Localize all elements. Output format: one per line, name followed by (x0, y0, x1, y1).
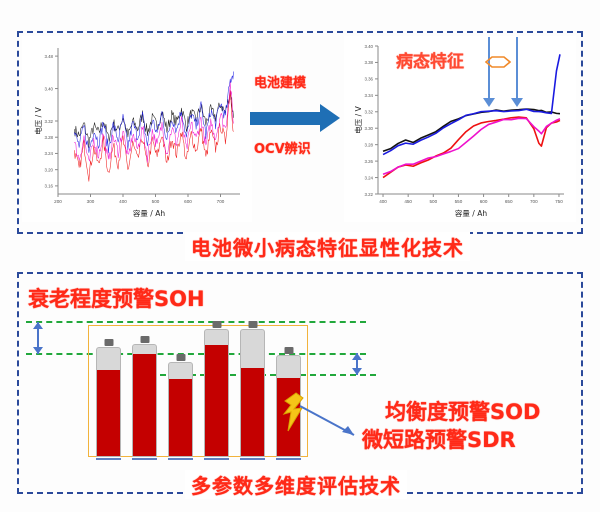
battery-cap-icon (140, 336, 149, 343)
battery-cell (132, 336, 157, 457)
svg-text:3.40: 3.40 (364, 44, 373, 49)
svg-text:3.22: 3.22 (364, 192, 373, 197)
svg-text:3.24: 3.24 (364, 175, 373, 180)
battery-fill-level (97, 370, 120, 456)
svg-text:450: 450 (404, 199, 412, 204)
battery-base (204, 458, 229, 460)
battery-body (132, 344, 157, 457)
battery-cell (168, 354, 193, 457)
battery-cap-icon (176, 354, 185, 361)
down-arrow-head (483, 98, 495, 107)
battery-base (168, 458, 193, 460)
svg-text:400: 400 (119, 199, 127, 204)
battery-fill-level (169, 379, 192, 456)
soh-label: 衰老程度预警SOH (28, 283, 205, 313)
battery-base (276, 458, 301, 460)
battery-fill-level (133, 354, 156, 456)
svg-text:3.38: 3.38 (364, 60, 373, 65)
svg-text:700: 700 (530, 199, 538, 204)
down-arrow-shaft (516, 37, 518, 98)
right-arrow-icon (250, 112, 322, 125)
battery-cap-icon (284, 347, 293, 354)
transform-arrow-block: 电池建模 OCV辨识 (250, 68, 346, 168)
infographic-root: 2003004005006007003.163.203.243.283.323.… (0, 0, 600, 512)
svg-text:3.34: 3.34 (364, 93, 373, 98)
svg-text:容量 / Ah: 容量 / Ah (133, 208, 165, 218)
down-arrow-icon (483, 37, 495, 107)
battery-base (96, 458, 121, 460)
battery-cell (96, 339, 121, 457)
soh-arrow-head-down (33, 347, 43, 354)
down-arrow-head (511, 98, 523, 107)
svg-text:3.24: 3.24 (44, 151, 53, 156)
svg-text:3.48: 3.48 (44, 54, 53, 59)
sod-arrow-head-down (352, 368, 362, 375)
chart-left-canvas: 2003004005006007003.163.203.243.283.323.… (22, 36, 252, 222)
green-threshold-line-top (26, 321, 366, 323)
svg-text:750: 750 (555, 199, 563, 204)
battery-cell (204, 321, 229, 457)
bottom-panel-caption: 多参数多维度评估技术 (185, 470, 407, 499)
double-head-diamond-icon (485, 55, 511, 69)
svg-text:650: 650 (505, 199, 513, 204)
svg-text:550: 550 (455, 199, 463, 204)
svg-text:3.26: 3.26 (364, 159, 373, 164)
svg-text:600: 600 (184, 199, 192, 204)
battery-cap-icon (104, 339, 113, 346)
right-arrow-head-icon (320, 104, 340, 132)
svg-text:500: 500 (152, 199, 160, 204)
svg-text:3.16: 3.16 (44, 184, 53, 189)
chart-raw-noisy-ocv: 2003004005006007003.163.203.243.283.323.… (22, 36, 252, 222)
battery-body (96, 347, 121, 457)
sod-label: 均衡度预警SOD (385, 396, 540, 426)
svg-text:3.40: 3.40 (44, 86, 53, 91)
svg-text:600: 600 (480, 199, 488, 204)
battery-modeling-label: 电池建模 (254, 72, 306, 91)
battery-cap-icon (212, 321, 221, 328)
vertical-double-arrow-icon (33, 322, 43, 354)
battery-pack-boundary (88, 325, 308, 457)
svg-text:200: 200 (54, 199, 62, 204)
svg-text:电压 / V: 电压 / V (353, 105, 363, 133)
svg-text:3.28: 3.28 (44, 135, 53, 140)
svg-text:3.32: 3.32 (364, 110, 373, 115)
soh-arrow-head-up (33, 322, 43, 329)
svg-text:3.30: 3.30 (364, 126, 373, 131)
svg-text:3.36: 3.36 (364, 77, 373, 82)
top-panel-caption: 电池微小病态特征显性化技术 (185, 232, 470, 261)
svg-text:300: 300 (87, 199, 95, 204)
battery-body (168, 362, 193, 457)
pointer-arrow-icon (298, 404, 364, 444)
battery-fill-level (205, 345, 228, 456)
svg-text:400: 400 (379, 199, 387, 204)
down-arrow-icon (511, 37, 523, 107)
battery-base (132, 458, 157, 460)
svg-text:3.28: 3.28 (364, 142, 373, 147)
vertical-double-arrow-icon (352, 353, 362, 375)
svg-text:3.32: 3.32 (44, 119, 53, 124)
ocv-identification-label: OCV辨识 (254, 138, 311, 157)
battery-body (240, 329, 265, 457)
battery-cell (240, 321, 265, 457)
svg-text:700: 700 (217, 199, 225, 204)
battery-fill-level (241, 368, 264, 456)
svg-text:容量 / Ah: 容量 / Ah (455, 208, 487, 218)
battery-base (240, 458, 265, 460)
svg-text:500: 500 (429, 199, 437, 204)
sick-feature-label: 病态特征 (396, 47, 464, 72)
battery-body (204, 329, 229, 457)
battery-cap-icon (248, 321, 257, 328)
sod-arrow-head-up (352, 353, 362, 360)
sdr-label: 微短路预警SDR (362, 424, 516, 454)
svg-text:电压 / V: 电压 / V (33, 106, 43, 134)
svg-text:3.20: 3.20 (44, 167, 53, 172)
